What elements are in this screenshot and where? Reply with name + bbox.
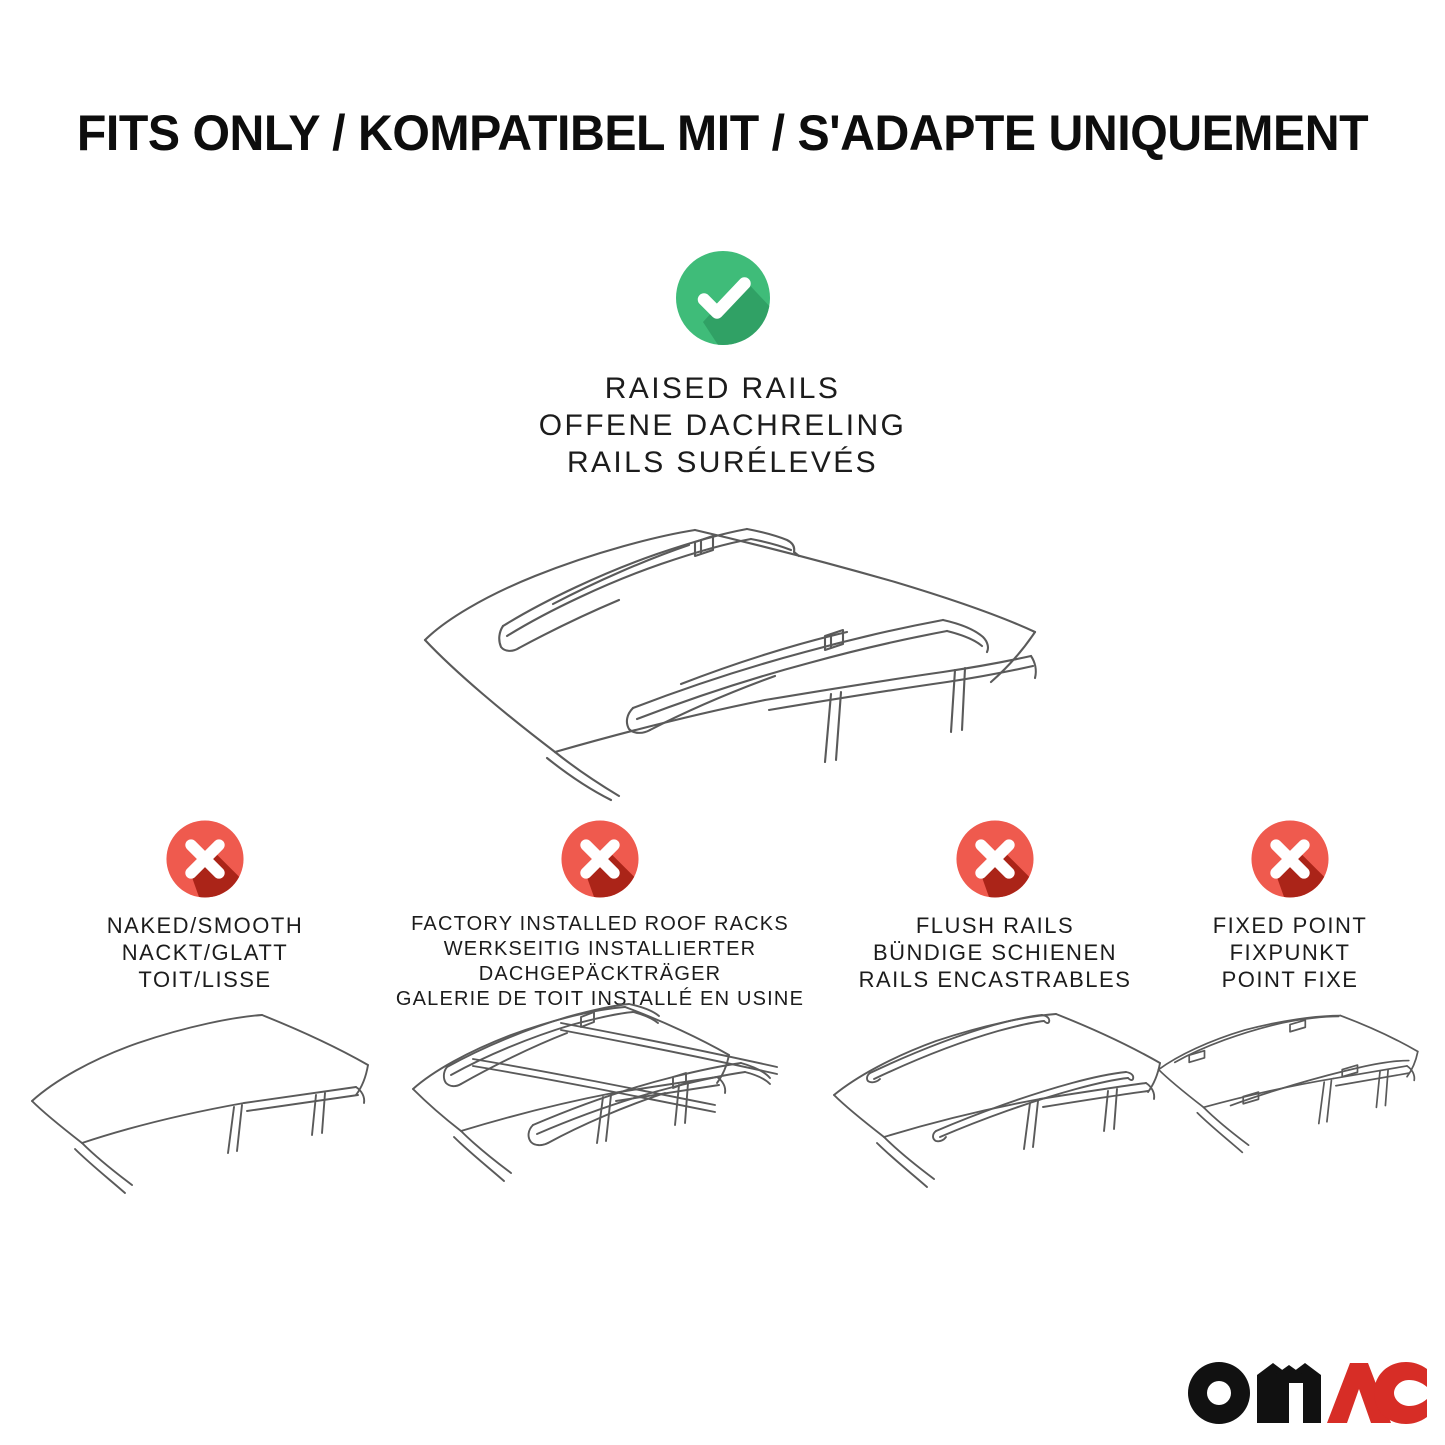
- logo-letter-m: [1257, 1363, 1321, 1423]
- incompatible-label-line-3: TOIT/LISSE: [20, 966, 390, 993]
- incompatible-label-line-2: BÜNDIGE SCHIENEN: [820, 939, 1170, 966]
- car-roof-raised-rails-illustration: [395, 500, 1055, 800]
- incompatible-item-naked-smooth: NAKED/SMOOTH NACKT/GLATT TOIT/LISSE: [20, 818, 390, 993]
- incompatible-item-flush-rails: FLUSH RAILS BÜNDIGE SCHIENEN RAILS ENCAS…: [820, 818, 1170, 993]
- x-circle-icon: [1249, 818, 1331, 900]
- compatible-labels: RAISED RAILS OFFENE DACHRELING RAILS SUR…: [0, 370, 1445, 481]
- car-roof-flush-rails-illustration: [820, 1003, 1170, 1218]
- incompatible-label-line-2: WERKSEITIG INSTALLIERTER: [385, 937, 815, 962]
- omac-logo: [1187, 1361, 1427, 1423]
- car-roof-factory-racks-illustration: [385, 993, 815, 1218]
- check-circle-icon: [673, 248, 773, 348]
- x-circle-icon: [164, 818, 246, 900]
- logo-letter-o: [1188, 1362, 1250, 1424]
- incompatible-labels: FLUSH RAILS BÜNDIGE SCHIENEN RAILS ENCAS…: [820, 912, 1170, 993]
- car-roof-fixed-point-illustration: [1155, 1003, 1425, 1218]
- compatible-label-line-2: OFFENE DACHRELING: [0, 407, 1445, 444]
- incompatible-section: NAKED/SMOOTH NACKT/GLATT TOIT/LISSE: [0, 818, 1445, 1248]
- incompatible-labels: FIXED POINT FIXPUNKT POINT FIXE: [1155, 912, 1425, 993]
- x-circle-icon: [954, 818, 1036, 900]
- incompatible-label-line-2: NACKT/GLATT: [20, 939, 390, 966]
- incompatible-label-line-1: FACTORY INSTALLED ROOF RACKS: [385, 912, 815, 937]
- incompatible-item-fixed-point: FIXED POINT FIXPUNKT POINT FIXE: [1155, 818, 1425, 993]
- incompatible-labels: NAKED/SMOOTH NACKT/GLATT TOIT/LISSE: [20, 912, 390, 993]
- incompatible-label-line-3: POINT FIXE: [1155, 966, 1425, 993]
- x-circle-icon: [559, 818, 641, 900]
- compatible-label-line-1: RAISED RAILS: [0, 370, 1445, 407]
- incompatible-label-line-1: FIXED POINT: [1155, 912, 1425, 939]
- compatible-label-line-3: RAILS SURÉLEVÉS: [0, 444, 1445, 481]
- incompatible-label-line-3: DACHGEPÄCKTRÄGER: [385, 962, 815, 987]
- incompatible-label-line-1: NAKED/SMOOTH: [20, 912, 390, 939]
- page-title: FITS ONLY / KOMPATIBEL MIT / S'ADAPTE UN…: [25, 104, 1419, 162]
- compatible-section: RAISED RAILS OFFENE DACHRELING RAILS SUR…: [0, 248, 1445, 481]
- incompatible-item-factory-racks: FACTORY INSTALLED ROOF RACKS WERKSEITIG …: [385, 818, 815, 1012]
- incompatible-label-line-1: FLUSH RAILS: [820, 912, 1170, 939]
- car-roof-naked-smooth-illustration: [20, 1003, 390, 1218]
- incompatible-label-line-2: FIXPUNKT: [1155, 939, 1425, 966]
- incompatible-label-line-3: RAILS ENCASTRABLES: [820, 966, 1170, 993]
